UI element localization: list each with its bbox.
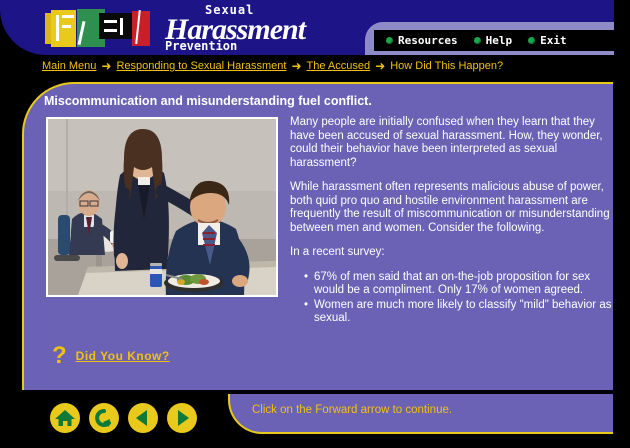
- survey-bullet-1: 67% of men said that an on-the-job propo…: [304, 271, 612, 298]
- right-triangle-icon: [167, 403, 197, 433]
- topnav-exit-button[interactable]: Exit: [528, 34, 567, 47]
- breadcrumb-item-the-accused[interactable]: The Accused: [307, 60, 371, 72]
- breadcrumb-item-main-menu[interactable]: Main Menu: [42, 60, 96, 72]
- page-title: Miscommunication and misunderstanding fu…: [44, 94, 584, 108]
- lesson-photo: [46, 117, 278, 297]
- survey-bullet-list: 67% of men said that an on-the-job propo…: [304, 271, 612, 326]
- did-you-know-link[interactable]: ? Did You Know?: [52, 346, 170, 366]
- home-icon: [50, 403, 80, 433]
- back-button[interactable]: [128, 403, 158, 433]
- green-dot-icon: [528, 37, 535, 44]
- topnav-help-button[interactable]: Help: [474, 34, 513, 47]
- left-triangle-icon: [128, 403, 158, 433]
- lesson-photo-illustration: [48, 119, 276, 295]
- breadcrumb-item-current: How Did This Happen?: [390, 60, 503, 72]
- body-paragraph-2: While harassment often represents malici…: [290, 181, 612, 235]
- home-button[interactable]: [50, 403, 80, 433]
- topnav-resources-label: Resources: [398, 34, 458, 47]
- breadcrumb: Main Menu ➜ Responding to Sexual Harassm…: [42, 58, 503, 74]
- topnav-exit-label: Exit: [540, 34, 567, 47]
- breadcrumb-arrow-icon: ➜: [291, 60, 301, 72]
- content-panel: Miscommunication and misunderstanding fu…: [22, 82, 613, 390]
- breadcrumb-arrow-icon: ➜: [375, 60, 385, 72]
- title-word-prevention: Prevention: [165, 39, 237, 53]
- course-logo-blocks: [44, 7, 142, 47]
- topnav-help-label: Help: [486, 34, 513, 47]
- survey-intro: In a recent survey:: [290, 246, 612, 260]
- replay-button[interactable]: [89, 403, 119, 433]
- did-you-know-label: Did You Know?: [76, 349, 170, 363]
- footer-instruction-bar: Click on the Forward arrow to continue.: [228, 394, 613, 434]
- circular-arrow-icon: [89, 403, 119, 433]
- survey-bullet-2: Women are much more likely to classify "…: [304, 299, 612, 326]
- course-page: Sexual Harassment Prevention Resources H…: [0, 0, 630, 448]
- topnav-resources-button[interactable]: Resources: [386, 34, 458, 47]
- footer-instruction-text: Click on the Forward arrow to continue.: [252, 404, 452, 416]
- breadcrumb-arrow-icon: ➜: [101, 60, 111, 72]
- forward-button[interactable]: [167, 403, 197, 433]
- green-dot-icon: [474, 37, 481, 44]
- green-dot-icon: [386, 37, 393, 44]
- lesson-body: Many people are initially confused when …: [290, 116, 612, 327]
- top-navigation-bar: Resources Help Exit: [374, 30, 614, 51]
- question-mark-icon: ?: [52, 346, 67, 366]
- body-paragraph-1: Many people are initially confused when …: [290, 116, 612, 170]
- navigation-button-bar: [50, 403, 197, 433]
- course-title-logo: Sexual Harassment Prevention: [160, 2, 350, 54]
- breadcrumb-item-responding[interactable]: Responding to Sexual Harassment: [116, 60, 286, 72]
